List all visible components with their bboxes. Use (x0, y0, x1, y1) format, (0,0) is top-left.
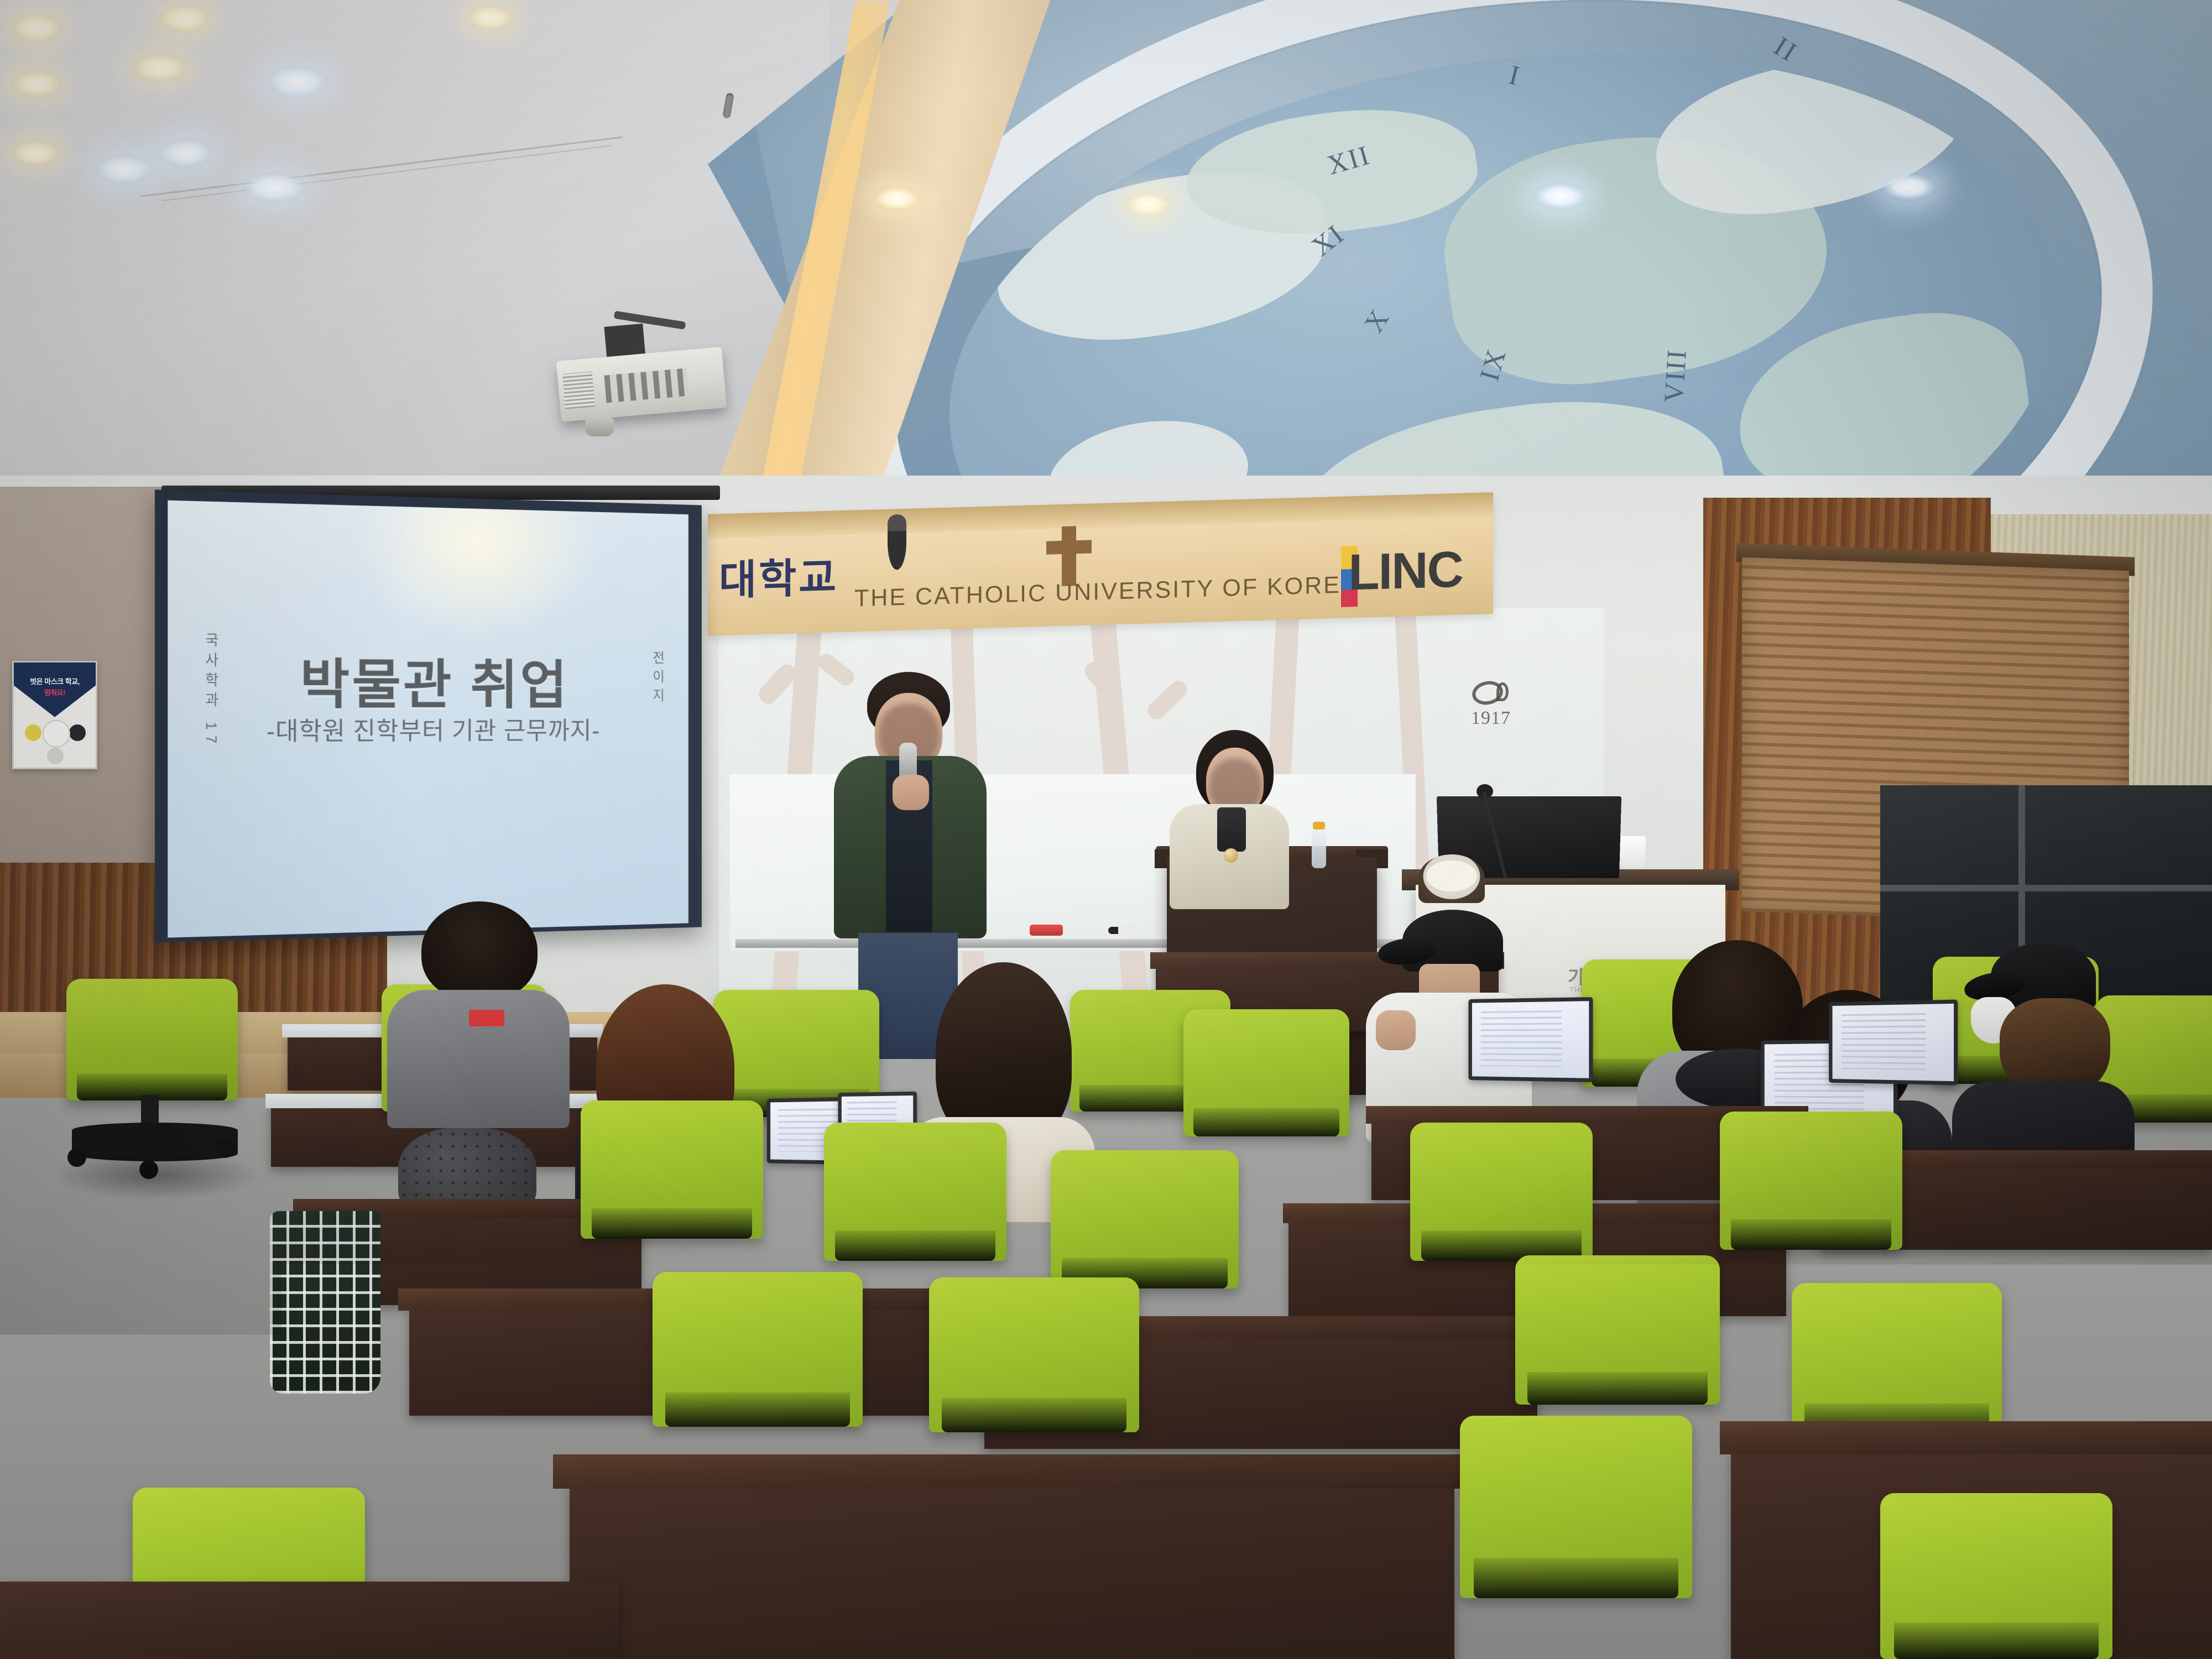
projector-hotspot (353, 500, 600, 645)
green-chair[interactable] (1880, 1493, 2112, 1659)
slide-subtitle: -대학원 진학부터 기관 근무까지- (168, 711, 688, 748)
green-chair[interactable] (581, 1100, 763, 1239)
projector-ports (604, 368, 689, 403)
plaid-coat-on-chair[interactable] (270, 1211, 380, 1394)
student-gray-hoodie-front-left (387, 901, 570, 1134)
wall-poster: 벗은 마스크 학교, 멈춰요! (12, 661, 97, 769)
chair-shadow (51, 1150, 261, 1200)
hoodie-logo-icon (469, 1010, 504, 1026)
ceiling-downlight (466, 4, 514, 31)
projection-screen[interactable]: 국사학과 17 박물관 취업 -대학원 진학부터 기관 근무까지- 전이지 (155, 489, 702, 942)
signboard-linc-text: LINC (1348, 541, 1463, 602)
signboard-english-text: THE CATHOLIC UNIVERSITY OF KOREA (854, 571, 1359, 612)
ceiling-downlight (265, 65, 330, 98)
student-hair (421, 901, 538, 1001)
security-camera-icon (888, 514, 906, 570)
university-emblem: 1917 (1460, 681, 1521, 742)
green-chair[interactable] (1720, 1112, 1902, 1250)
emblem-year: 1917 (1471, 708, 1511, 729)
ceiling-downlight (1880, 173, 1938, 201)
poster-figure-icon (47, 748, 64, 764)
clock-face (1426, 860, 1477, 891)
ceiling-downlight (133, 53, 188, 83)
poster-center-circle (43, 720, 70, 748)
green-chair[interactable] (929, 1277, 1139, 1432)
ceiling-downlight (157, 138, 215, 168)
whiteboard-eraser[interactable] (1030, 925, 1063, 936)
host-inner-top (1217, 807, 1246, 852)
laptop[interactable] (1829, 1000, 1958, 1086)
green-chair[interactable] (1460, 1416, 1692, 1598)
slide-vertical-right-text: 전이지 (648, 650, 667, 707)
water-bottle[interactable] (1312, 828, 1326, 868)
host-at-podium (1159, 730, 1297, 896)
host-brooch (1224, 848, 1238, 863)
lecture-hall-photo: I II XII XI X IX VIII (0, 0, 2212, 1659)
ceiling-downlight (10, 70, 63, 98)
green-chair[interactable] (653, 1272, 863, 1427)
presenter-hands (893, 775, 929, 810)
cross-icon (1062, 526, 1076, 586)
poster-headline-2: 멈춰요! (14, 687, 96, 697)
green-chair[interactable] (1183, 1009, 1349, 1136)
ceiling-downlight (10, 13, 63, 43)
ceiling: I II XII XI X IX VIII (0, 0, 2212, 498)
ceiling-left-panel (0, 0, 830, 487)
green-chair[interactable] (1410, 1123, 1593, 1261)
laptop-screen-content (1841, 1013, 1926, 1070)
paper-cup[interactable] (1620, 836, 1646, 868)
poster-headline-1: 벗은 마스크 학교, (14, 676, 96, 686)
student-hand (1376, 1010, 1416, 1050)
laptop[interactable] (1468, 997, 1593, 1082)
green-chair[interactable] (1515, 1255, 1720, 1405)
ceiling-downlight (158, 4, 211, 33)
bottle-cap (1313, 822, 1325, 830)
ceiling-downlight (1533, 182, 1588, 210)
ceiling-downlight (10, 139, 61, 167)
office-chair[interactable] (66, 979, 238, 1100)
clock-numeral-viii: VIII (1657, 347, 1693, 404)
green-chair[interactable] (1792, 1283, 2002, 1438)
linc-signboard: 대학교 THE CATHOLIC UNIVERSITY OF KOREA LIN… (708, 492, 1493, 636)
whiteboard-marker[interactable] (1108, 927, 1137, 934)
foreground-desk-edge (0, 1582, 619, 1659)
desk-surface (1720, 1421, 2212, 1454)
poster-figure-icon (69, 724, 86, 741)
dark-coat-on-chair[interactable] (813, 1460, 1377, 1659)
ceiling-downlight (94, 154, 155, 185)
ceiling-downlight (241, 171, 307, 204)
poster-figure-icon (25, 724, 41, 741)
projector-vent (562, 372, 595, 409)
ceiling-downlight (1125, 192, 1171, 217)
smoke-detector-icon (585, 418, 614, 436)
signboard-korean-text: 대학교 (719, 557, 838, 601)
green-chair[interactable] (824, 1123, 1006, 1261)
ceiling-downlight (873, 186, 921, 211)
slide-title: 박물관 취업 (168, 639, 688, 718)
wall-clock (1418, 854, 1485, 903)
slide-surface: 국사학과 17 박물관 취업 -대학원 진학부터 기관 근무까지- 전이지 (168, 500, 688, 938)
green-chair[interactable] (1051, 1150, 1239, 1288)
laptop-screen-content (1481, 1011, 1562, 1067)
window-sill (1880, 885, 2212, 891)
